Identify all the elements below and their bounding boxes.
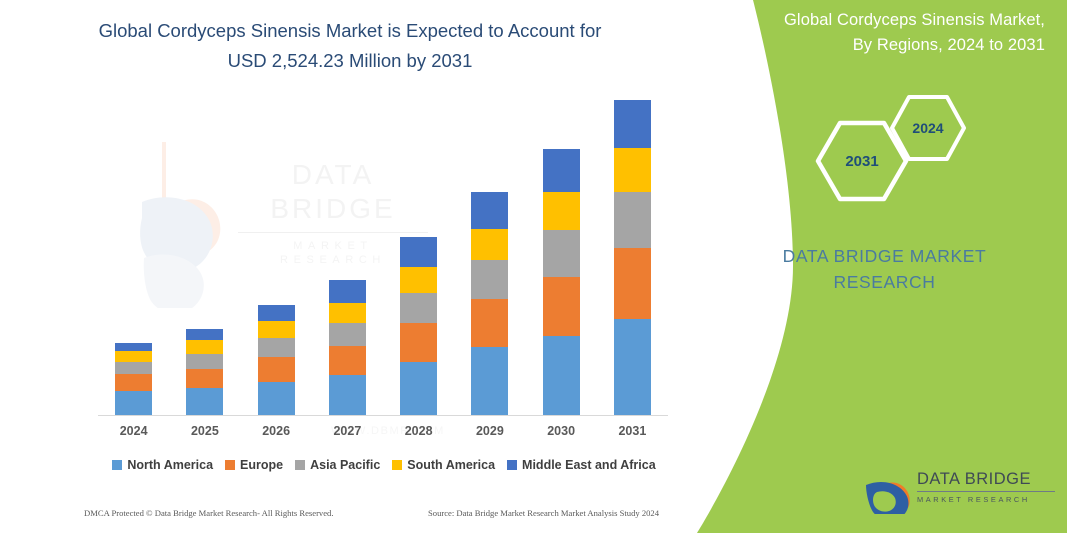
side-panel-title-line-1: Global Cordyceps Sinensis Market, xyxy=(723,8,1045,33)
legend-item[interactable]: Middle East and Africa xyxy=(507,458,656,472)
footer-copyright: DMCA Protected © Data Bridge Market Rese… xyxy=(84,508,334,518)
brand-wordmark-main: DATA BRIDGE xyxy=(917,470,1057,489)
legend-item[interactable]: Asia Pacific xyxy=(295,458,380,472)
legend-item[interactable]: Europe xyxy=(225,458,283,472)
hexagon-2024-label: 2024 xyxy=(912,120,943,136)
bar-segment xyxy=(329,280,366,302)
bar-segment xyxy=(400,323,437,362)
bar-segment xyxy=(258,357,295,381)
x-axis-label: 2031 xyxy=(597,424,668,444)
chart-panel: Global Cordyceps Sinensis Market is Expe… xyxy=(0,0,700,533)
side-panel: Global Cordyceps Sinensis Market, By Reg… xyxy=(697,0,1067,533)
legend-label: Europe xyxy=(240,458,283,472)
bar-segment xyxy=(186,340,223,353)
x-axis-label: 2029 xyxy=(454,424,525,444)
chart-legend: North AmericaEuropeAsia PacificSouth Ame… xyxy=(98,455,670,475)
bar-segment xyxy=(186,354,223,370)
stacked-bar-2027 xyxy=(329,280,366,415)
bar-segment xyxy=(258,305,295,322)
bar-segment xyxy=(186,388,223,415)
brand-wordmark-sub: MARKET RESEARCH xyxy=(917,495,1057,505)
brand-logo: DATA BRIDGE MARKET RESEARCH xyxy=(865,462,1055,518)
bar-group xyxy=(98,100,169,415)
legend-label: South America xyxy=(407,458,495,472)
stacked-bar-2031 xyxy=(614,100,651,415)
bar-segment xyxy=(258,338,295,357)
bar-segment xyxy=(329,375,366,415)
hexagon-2031-label: 2031 xyxy=(845,153,878,170)
x-axis-labels: 20242025202620272028202920302031 xyxy=(98,424,668,444)
hexagon-group: 2024 2031 xyxy=(807,92,1057,202)
legend-item[interactable]: North America xyxy=(112,458,213,472)
legend-swatch-icon xyxy=(225,460,235,470)
bar-segment xyxy=(614,192,651,248)
stacked-bars xyxy=(98,100,668,415)
bar-segment xyxy=(614,100,651,148)
bar-segment xyxy=(186,329,223,340)
bar-segment xyxy=(543,336,580,415)
bar-segment xyxy=(471,299,508,347)
legend-swatch-icon xyxy=(112,460,122,470)
bar-segment xyxy=(329,323,366,346)
bar-segment xyxy=(400,293,437,323)
hexagon-2031: 2031 xyxy=(815,120,909,202)
chart-title-line-1: Global Cordyceps Sinensis Market is Expe… xyxy=(40,16,660,46)
bar-group xyxy=(241,100,312,415)
bar-segment xyxy=(400,267,437,293)
side-panel-title: Global Cordyceps Sinensis Market, By Reg… xyxy=(723,8,1045,58)
x-axis-label: 2028 xyxy=(383,424,454,444)
stacked-bar-2025 xyxy=(186,329,223,415)
bar-segment xyxy=(471,192,508,229)
side-panel-title-line-2: By Regions, 2024 to 2031 xyxy=(723,33,1045,58)
bar-segment xyxy=(329,346,366,375)
chart-title: Global Cordyceps Sinensis Market is Expe… xyxy=(40,16,660,76)
stacked-bar-2029 xyxy=(471,192,508,415)
side-panel-content: Global Cordyceps Sinensis Market, By Reg… xyxy=(697,0,1067,533)
bar-segment xyxy=(329,303,366,323)
bar-group xyxy=(383,100,454,415)
legend-swatch-icon xyxy=(507,460,517,470)
bar-group xyxy=(454,100,525,415)
x-axis-line xyxy=(98,415,668,416)
x-axis-label: 2025 xyxy=(169,424,240,444)
side-panel-brand-line-2: RESEARCH xyxy=(722,269,1047,295)
legend-swatch-icon xyxy=(392,460,402,470)
bar-segment xyxy=(471,229,508,260)
bar-group xyxy=(312,100,383,415)
side-panel-brand-line-1: DATA BRIDGE MARKET xyxy=(722,243,1047,269)
side-panel-brand: DATA BRIDGE MARKET RESEARCH xyxy=(722,243,1047,295)
brand-wordmark: DATA BRIDGE MARKET RESEARCH xyxy=(917,470,1057,505)
bar-segment xyxy=(258,321,295,338)
x-axis-label: 2027 xyxy=(312,424,383,444)
bar-segment xyxy=(115,351,152,362)
bar-segment xyxy=(543,192,580,230)
stacked-bar-2030 xyxy=(543,149,580,415)
footer-source: Source: Data Bridge Market Research Mark… xyxy=(428,508,659,518)
stacked-bar-2026 xyxy=(258,305,295,415)
x-axis-label: 2030 xyxy=(526,424,597,444)
bar-segment xyxy=(115,374,152,391)
chart-title-line-2: USD 2,524.23 Million by 2031 xyxy=(40,46,660,76)
legend-label: North America xyxy=(127,458,213,472)
bar-segment xyxy=(614,248,651,319)
bar-segment xyxy=(543,149,580,192)
legend-label: Middle East and Africa xyxy=(522,458,656,472)
data-bridge-logo-icon xyxy=(865,466,911,514)
bar-segment xyxy=(258,382,295,415)
legend-swatch-icon xyxy=(295,460,305,470)
bar-segment xyxy=(400,362,437,415)
bar-group xyxy=(526,100,597,415)
bar-segment xyxy=(400,237,437,267)
bar-segment xyxy=(543,230,580,277)
bar-segment xyxy=(614,319,651,415)
legend-item[interactable]: South America xyxy=(392,458,495,472)
stacked-bar-2028 xyxy=(400,237,437,415)
bar-segment xyxy=(115,343,152,351)
plot-area xyxy=(98,100,668,416)
x-axis-label: 2024 xyxy=(98,424,169,444)
brand-wordmark-divider xyxy=(917,491,1055,492)
bar-segment xyxy=(614,148,651,193)
bar-segment xyxy=(471,260,508,299)
legend-label: Asia Pacific xyxy=(310,458,380,472)
infographic-root: Global Cordyceps Sinensis Market is Expe… xyxy=(0,0,1067,533)
bar-segment xyxy=(115,391,152,415)
bar-group xyxy=(169,100,240,415)
bar-segment xyxy=(186,369,223,388)
stacked-bar-2024 xyxy=(115,343,152,415)
x-axis-label: 2026 xyxy=(241,424,312,444)
bar-segment xyxy=(543,277,580,336)
bar-group xyxy=(597,100,668,415)
bar-segment xyxy=(115,362,152,374)
bar-segment xyxy=(471,347,508,415)
